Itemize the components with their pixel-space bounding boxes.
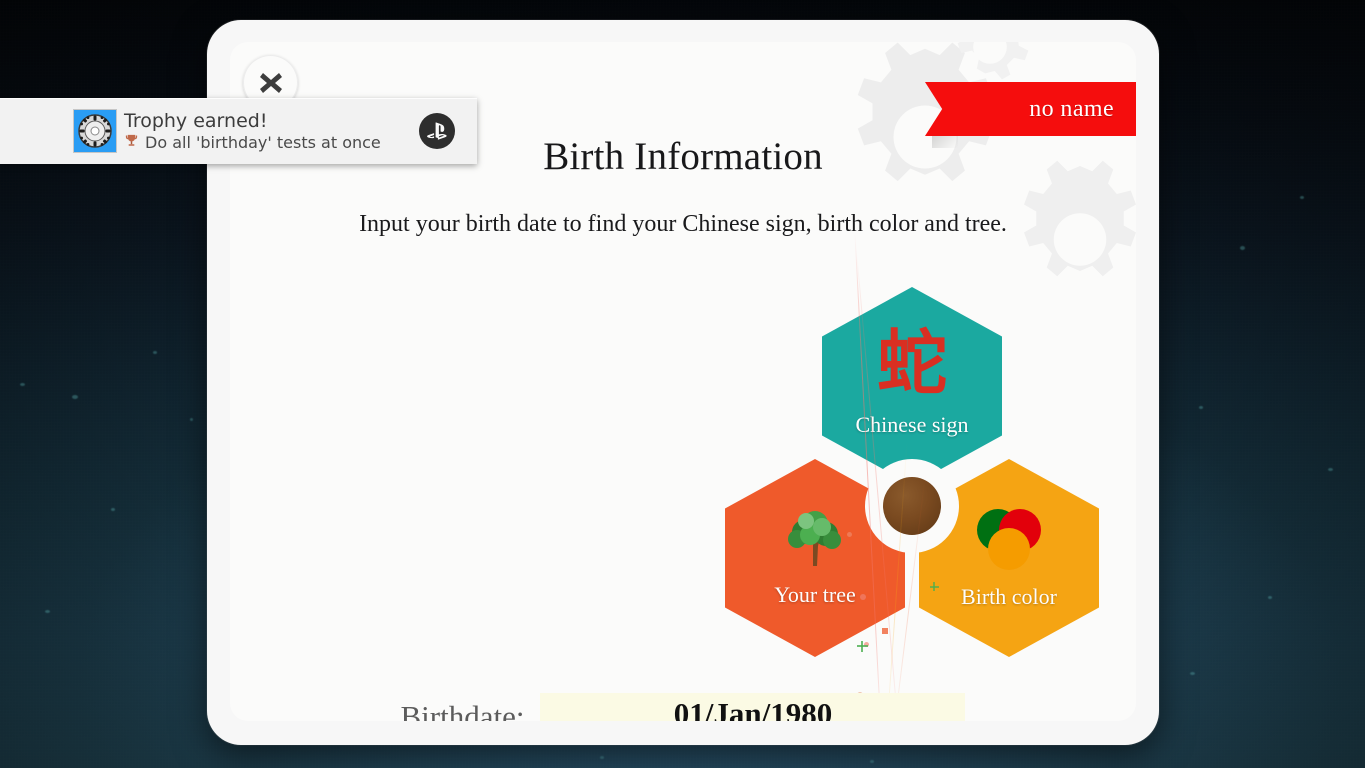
background-star <box>1190 672 1195 675</box>
chinese-zodiac-glyph: 蛇 <box>877 328 947 398</box>
background-star <box>190 418 193 421</box>
background-star <box>1328 468 1333 471</box>
trophy-description: Do all 'birthday' tests at once <box>145 133 381 152</box>
birthdate-label: Birthdate: <box>401 699 525 722</box>
page-subtitle: Input your birth date to find your Chine… <box>353 209 1013 239</box>
hexagon-hub[interactable] <box>883 477 941 535</box>
background-star <box>1268 596 1272 599</box>
hex-chinese-sign-label: Chinese sign <box>855 412 968 438</box>
trophy-notification[interactable]: Trophy earned! Do all 'birthday' tests a… <box>0 98 477 164</box>
hex-chinese-sign[interactable]: 蛇 Chinese sign <box>822 287 1002 485</box>
trophy-description-row: Do all 'birthday' tests at once <box>124 133 381 152</box>
profile-name-ribbon[interactable]: no name <box>925 82 1136 136</box>
color-wheel-icon <box>974 506 1044 572</box>
background-star <box>111 508 115 511</box>
background-star <box>1199 406 1203 409</box>
background-star <box>45 610 50 613</box>
trophy-text-block: Trophy earned! Do all 'birthday' tests a… <box>124 111 381 152</box>
birthdate-row: Birthdate: <box>230 693 1136 721</box>
screen: no name Birth Information Input your bir… <box>0 0 1365 768</box>
zodiac-wheel-icon <box>74 110 116 152</box>
background-star <box>870 760 874 763</box>
ribbon-fold-shadow <box>932 134 958 148</box>
background-star <box>600 756 604 759</box>
background-star <box>1240 246 1245 250</box>
background-star <box>1300 196 1304 199</box>
hex-your-tree-label: Your tree <box>774 582 855 608</box>
tree-icon <box>782 508 848 570</box>
trophy-title: Trophy earned! <box>124 111 381 132</box>
hexagon-cluster: 蛇 Chinese sign <box>713 287 1113 672</box>
profile-name-label: no name <box>1029 96 1114 123</box>
background-star <box>153 351 157 354</box>
playstation-icon <box>419 113 455 149</box>
hex-birth-color-label: Birth color <box>961 584 1057 610</box>
birthdate-input[interactable] <box>540 693 965 721</box>
close-icon <box>256 68 286 98</box>
background-star <box>20 383 25 386</box>
background-star <box>72 395 78 399</box>
trophy-icon <box>124 133 139 151</box>
